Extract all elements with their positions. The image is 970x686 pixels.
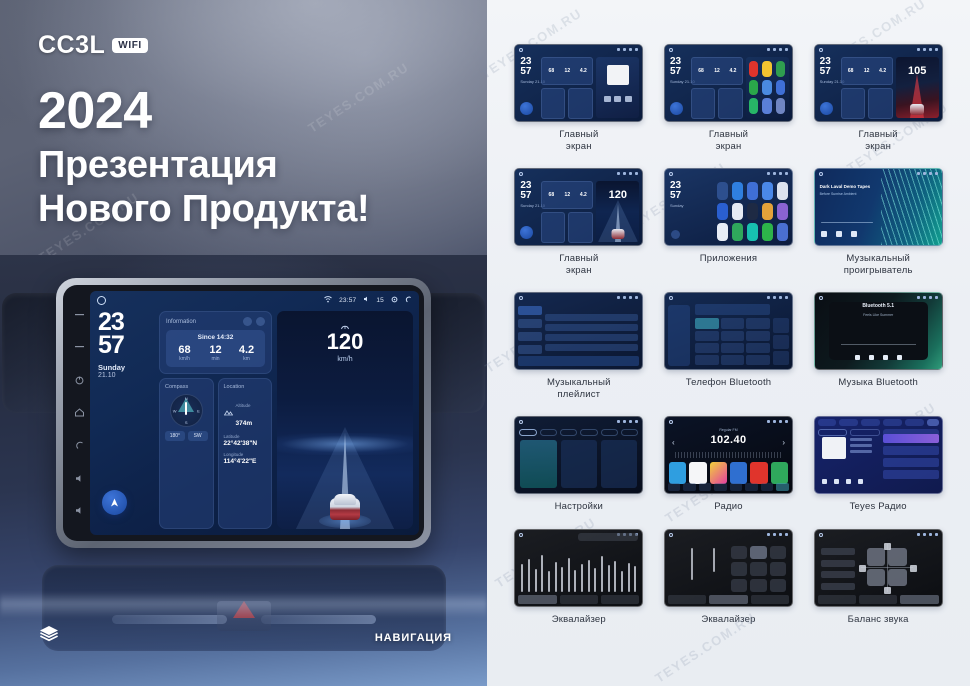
- latitude-row: Latitude 22°42'38"N: [224, 434, 267, 448]
- compass-card[interactable]: Compass N E S: [159, 378, 214, 529]
- gallery-item[interactable]: Dark Laval Demo Tapes Before Sunrise Amb…: [808, 168, 948, 276]
- gallery-caption: Баланс звука: [848, 614, 909, 626]
- thumbnail-bluetooth-phone[interactable]: [664, 292, 793, 370]
- gallery-caption: Приложения: [700, 253, 758, 265]
- location-title: Location: [224, 384, 267, 390]
- gallery-caption: Эквалайзер: [701, 614, 755, 626]
- home-icon: [669, 533, 673, 537]
- navigation-orb-button[interactable]: [102, 490, 127, 515]
- clock-minutes: 57: [98, 334, 154, 357]
- thumbnail-home-apps[interactable]: 2357Sunday 21.10 68124.2: [664, 44, 793, 122]
- stat-unit: min: [200, 356, 231, 362]
- gallery-item[interactable]: Regular FM 102.40 ‹ › Радио: [659, 416, 799, 513]
- brand-logo: CC3L WIFI: [38, 33, 148, 58]
- home-icon: [819, 296, 823, 300]
- gallery-item[interactable]: Музыкальный плейлист: [509, 292, 649, 400]
- gallery-caption: Настройки: [555, 501, 603, 513]
- back-arrow-icon[interactable]: [405, 296, 412, 305]
- screen-statusbar: 23:57 15: [90, 291, 419, 309]
- head-unit-hard-keys[interactable]: [68, 291, 90, 535]
- bluetooth-subtitle: Feels Like Summer: [815, 313, 942, 317]
- page-title: 2024 Презентация Нового Продукта!: [38, 84, 468, 232]
- home-icon: [669, 296, 673, 300]
- gallery-item[interactable]: 2357Sunday 21.10 68124.2 Главный экран: [659, 44, 799, 152]
- gallery-caption: Главный экран: [859, 129, 898, 152]
- screen-body: 23 57 Sunday 21.10: [90, 309, 419, 535]
- compass-direction: SW: [188, 431, 208, 441]
- console-strip-right: [261, 615, 376, 624]
- mountain-icon: [224, 403, 233, 421]
- statusbar-time: 23:57: [339, 297, 356, 304]
- info-column: Information Since 14:32: [159, 311, 272, 529]
- gallery-item[interactable]: 2357Sunday 21.10 68124.2 Главный экран: [509, 44, 649, 152]
- stat-unit: km/h: [169, 356, 200, 362]
- power-key-icon[interactable]: [74, 375, 85, 386]
- thumbnail-music-playlist[interactable]: [514, 292, 643, 370]
- speed-value: 120: [327, 331, 364, 353]
- car-3d-model: [326, 488, 364, 522]
- head-unit-bezel: 23:57 15: [56, 278, 431, 548]
- console-strip-left: [112, 615, 227, 624]
- player-track-title: Dark Laval Demo Tapes: [820, 184, 870, 189]
- home-icon: [519, 172, 523, 176]
- longitude-value: 114°4'22"E: [224, 458, 267, 466]
- gallery-caption: Музыкальный проигрыватель: [844, 253, 913, 276]
- car-dashboard: 23:57 15: [0, 255, 487, 686]
- home-key-icon[interactable]: [74, 407, 85, 418]
- gallery-item[interactable]: Эквалайзер: [659, 529, 799, 626]
- brand-name: CC3L: [38, 33, 105, 58]
- screenshot-gallery: TEYES.COM.RU TEYES.COM.RU TEYES.COM.RU T…: [487, 0, 970, 686]
- back-key-icon[interactable]: [74, 440, 85, 451]
- gallery-caption: Музыка Bluetooth: [838, 377, 918, 389]
- home-icon[interactable]: [97, 296, 106, 305]
- home-icon: [819, 48, 823, 52]
- layers-icon: [38, 624, 60, 644]
- stat-value: 4.2: [231, 344, 262, 356]
- compass-title: Compass: [165, 384, 208, 390]
- gallery-item[interactable]: 2357Sunday 21.10 68124.2 120 Главный экр…: [509, 168, 649, 276]
- expand-icon[interactable]: [256, 317, 265, 326]
- thumbnail-radio[interactable]: Regular FM 102.40 ‹ ›: [664, 416, 793, 494]
- compass-dial: N E S W: [170, 394, 203, 427]
- home-icon: [669, 48, 673, 52]
- refresh-icon[interactable]: [243, 317, 252, 326]
- balance-right-arrow[interactable]: [910, 565, 917, 572]
- clock-date: 21.10: [98, 372, 154, 380]
- gallery-item[interactable]: Баланс звука: [808, 529, 948, 626]
- gallery-item[interactable]: 2357Sunday 21.10 68124.2 105 Главный экр…: [808, 44, 948, 152]
- stat-value: 68: [169, 344, 200, 356]
- bluetooth-title: Bluetooth 5.1: [815, 303, 942, 309]
- balance-down-arrow[interactable]: [884, 587, 891, 594]
- speed-unit: km/h: [337, 356, 352, 363]
- radio-frequency: 102.40: [665, 434, 792, 446]
- gallery-item[interactable]: Настройки: [509, 416, 649, 513]
- home-icon: [819, 533, 823, 537]
- thumbnail-settings[interactable]: [514, 416, 643, 494]
- information-card[interactable]: Information Since 14:32: [159, 311, 272, 374]
- altitude-row: Altitude 374m: [224, 394, 267, 430]
- trip-stats: 68 km/h 12 min: [169, 344, 262, 362]
- volume-icon: [363, 296, 369, 304]
- trip-stat: 68 km/h: [169, 344, 200, 362]
- head-unit-inner: 23:57 15: [63, 285, 424, 541]
- gallery-caption: Главный экран: [559, 253, 598, 276]
- clock-widget[interactable]: 23 57 Sunday 21.10: [98, 311, 154, 529]
- home-icon: [669, 172, 673, 176]
- wifi-icon: [324, 296, 332, 305]
- gallery-caption: Главный экран: [559, 129, 598, 152]
- volume-up-key-icon[interactable]: [74, 505, 85, 516]
- menu-key-icon[interactable]: [74, 310, 85, 321]
- wifi-badge: WIFI: [112, 38, 148, 53]
- mode-key-icon[interactable]: [74, 342, 85, 353]
- stat-value: 12: [200, 344, 231, 356]
- headline-line-2: Нового Продукта!: [38, 187, 468, 232]
- compass-mark-s: S: [185, 420, 188, 425]
- gallery-item[interactable]: 2357Sunday Приложения: [659, 168, 799, 276]
- clock-weekday: Sunday: [98, 363, 154, 372]
- hazard-button[interactable]: [226, 601, 262, 631]
- latitude-value: 22°42'38"N: [224, 440, 267, 448]
- information-title: Information: [166, 319, 196, 325]
- location-card[interactable]: Location Altitude 374m: [218, 378, 273, 529]
- thumbnail-home-speed-red[interactable]: 2357Sunday 21.10 68124.2 105: [814, 44, 943, 122]
- next-station-icon[interactable]: ›: [782, 438, 785, 447]
- altitude-label: Altitude: [236, 403, 251, 408]
- compass-heading: 180°: [165, 431, 185, 441]
- longitude-row: Longitude 114°4'22"E: [224, 452, 267, 466]
- thumbnail-home-speed[interactable]: 2357Sunday 21.10 68124.2 120: [514, 168, 643, 246]
- gallery-item[interactable]: Bluetooth 5.1 Feels Like Summer Музыка B…: [808, 292, 948, 400]
- home-icon: [519, 48, 523, 52]
- gallery-item[interactable]: Эквалайзер: [509, 529, 649, 626]
- thumbnail-bluetooth-music[interactable]: Bluetooth 5.1 Feels Like Summer: [814, 292, 943, 370]
- headline-line-1: Презентация: [38, 143, 468, 188]
- thumbnail-equalizer[interactable]: [514, 529, 643, 607]
- thumbnail-sound-balance[interactable]: [814, 529, 943, 607]
- gallery-caption: Музыкальный плейлист: [547, 377, 611, 400]
- hero-panel: TEYES.COM.RU TEYES.COM.RU TEYES.COM.RU C…: [0, 0, 487, 686]
- thumbnail-equalizer-alt[interactable]: [664, 529, 793, 607]
- radio-band: Regular FM: [665, 428, 792, 432]
- head-unit-screen[interactable]: 23:57 15: [90, 291, 419, 535]
- thumbnail-music-player[interactable]: Dark Laval Demo Tapes Before Sunrise Amb…: [814, 168, 943, 246]
- balance-left-arrow[interactable]: [859, 565, 866, 572]
- home-icon: [519, 296, 523, 300]
- gallery-item[interactable]: Телефон Bluetooth: [659, 292, 799, 400]
- compass-mark-n: N: [185, 396, 188, 401]
- player-track-artist: Before Sunrise Ambient: [820, 192, 857, 196]
- gear-icon[interactable]: [391, 296, 398, 305]
- thumbnail-teyes-radio[interactable]: [814, 416, 943, 494]
- gallery-caption: Телефон Bluetooth: [686, 377, 772, 389]
- gallery-caption: Радио: [714, 501, 742, 513]
- footer-navigation-label: НАВИГАЦИЯ: [375, 632, 452, 644]
- speed-widget[interactable]: 120 km/h: [277, 311, 413, 529]
- gallery-caption: Teyes Радио: [850, 501, 907, 513]
- prev-station-icon[interactable]: ‹: [672, 438, 675, 447]
- gallery-caption: Эквалайзер: [552, 614, 606, 626]
- gallery-item[interactable]: Teyes Радио: [808, 416, 948, 513]
- home-icon: [669, 420, 673, 424]
- statusbar-volume-level: 15: [376, 297, 384, 304]
- home-icon: [819, 172, 823, 176]
- trip-stat: 12 min: [200, 344, 231, 362]
- trip-since-label: Since 14:32: [169, 334, 262, 341]
- volume-down-key-icon[interactable]: [74, 473, 85, 484]
- headline-year: 2024: [38, 84, 468, 139]
- compass-mark-w: W: [173, 408, 177, 413]
- altitude-value: 374m: [236, 420, 253, 427]
- gallery-caption: Главный экран: [709, 129, 748, 152]
- stat-unit: km: [231, 356, 262, 362]
- compass-mark-e: E: [197, 408, 200, 413]
- home-icon: [519, 420, 523, 424]
- thumbnail-apps[interactable]: 2357Sunday: [664, 168, 793, 246]
- gallery-grid: 2357Sunday 21.10 68124.2 Главный экран 2…: [509, 44, 948, 626]
- thumbnail-home-media[interactable]: 2357Sunday 21.10 68124.2: [514, 44, 643, 122]
- trip-stat: 4.2 km: [231, 344, 262, 362]
- balance-up-arrow[interactable]: [884, 543, 891, 550]
